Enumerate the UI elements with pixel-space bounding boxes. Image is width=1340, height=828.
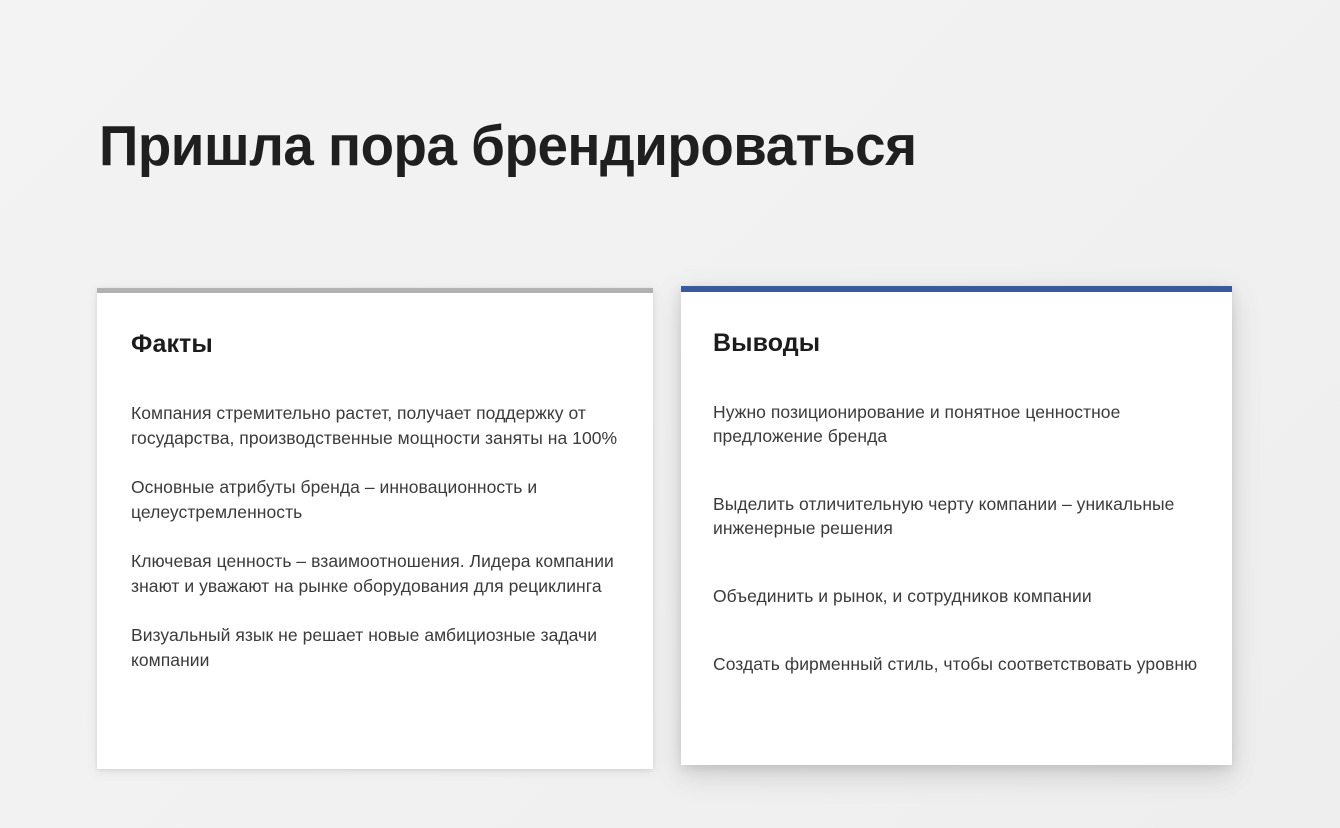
card-facts-paragraph: Ключевая ценность – взаимоотношения. Лид… [131, 549, 629, 599]
card-conclusions-paragraph: Создать фирменный стиль, чтобы соответст… [713, 652, 1208, 676]
slide-canvas: Пришла пора брендироваться Факты Компани… [0, 0, 1340, 828]
card-conclusions: Выводы Нужно позиционирование и понятное… [681, 286, 1232, 765]
card-conclusions-heading: Выводы [713, 328, 820, 358]
card-facts-paragraph: Основные атрибуты бренда – инновационнос… [131, 475, 629, 525]
card-conclusions-paragraph: Нужно позиционирование и понятное ценнос… [713, 400, 1208, 448]
page-title: Пришла пора брендироваться [99, 113, 917, 179]
card-facts-paragraph: Компания стремительно растет, получает п… [131, 401, 629, 451]
card-facts-paragraph: Визуальный язык не решает новые амбициоз… [131, 623, 629, 673]
card-conclusions-paragraph: Объединить и рынок, и сотрудников компан… [713, 584, 1208, 608]
card-facts-body: Компания стремительно растет, получает п… [131, 401, 629, 673]
card-conclusions-body: Нужно позиционирование и понятное ценнос… [713, 400, 1208, 720]
card-facts-heading: Факты [131, 329, 213, 359]
card-conclusions-paragraph: Выделить отличительную черту компании – … [713, 492, 1208, 540]
card-facts: Факты Компания стремительно растет, полу… [97, 288, 653, 769]
